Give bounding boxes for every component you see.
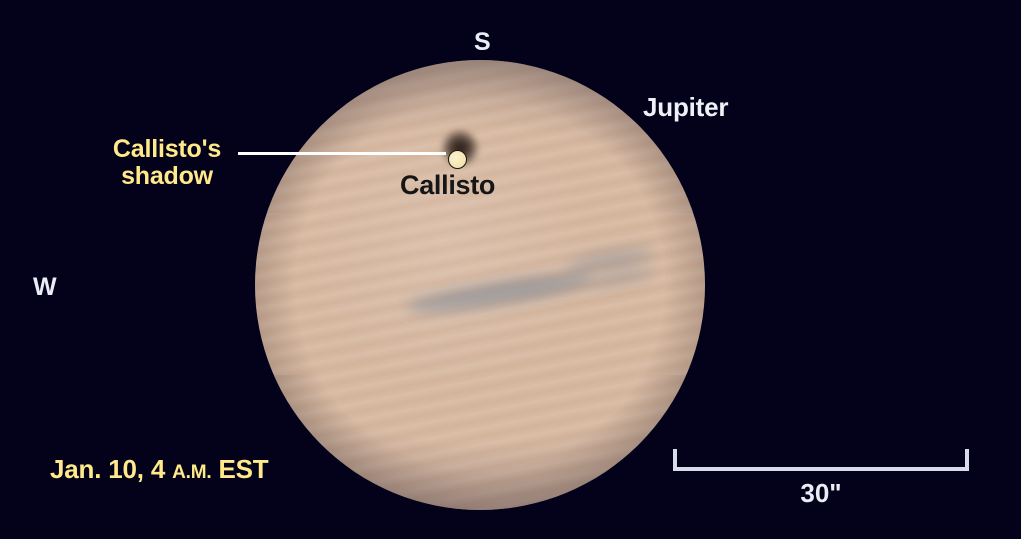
datetime-date: Jan. 10, 4	[50, 454, 172, 484]
jupiter-limb-darkening	[255, 60, 705, 510]
callisto-moon-disk	[448, 150, 467, 169]
scale-bar-rule	[673, 467, 969, 471]
callisto-label: Callisto	[400, 171, 495, 200]
datetime-meridiem: A.M.	[172, 462, 211, 483]
callisto-shadow-label-line-2: shadow	[121, 162, 213, 190]
datetime-caption: Jan. 10, 4 A.M. EST	[50, 455, 268, 484]
direction-south-label: S	[474, 29, 491, 56]
jupiter-disk	[255, 60, 705, 510]
sky-chart-illustration: Callisto'sshadow Callisto Jupiter S W Ja…	[0, 0, 1021, 539]
direction-west-label: W	[33, 274, 57, 301]
callisto-shadow-leader-line	[238, 152, 446, 155]
callisto-shadow-label-line-1: Callisto's	[113, 135, 221, 163]
scale-bar-label: 30"	[673, 478, 969, 509]
angular-scale-bar	[673, 449, 969, 471]
datetime-zone: EST	[211, 454, 268, 484]
scale-bar-right-tick	[965, 449, 969, 471]
callisto-shadow-label: Callisto'sshadow	[102, 136, 232, 190]
jupiter-label: Jupiter	[643, 93, 728, 121]
